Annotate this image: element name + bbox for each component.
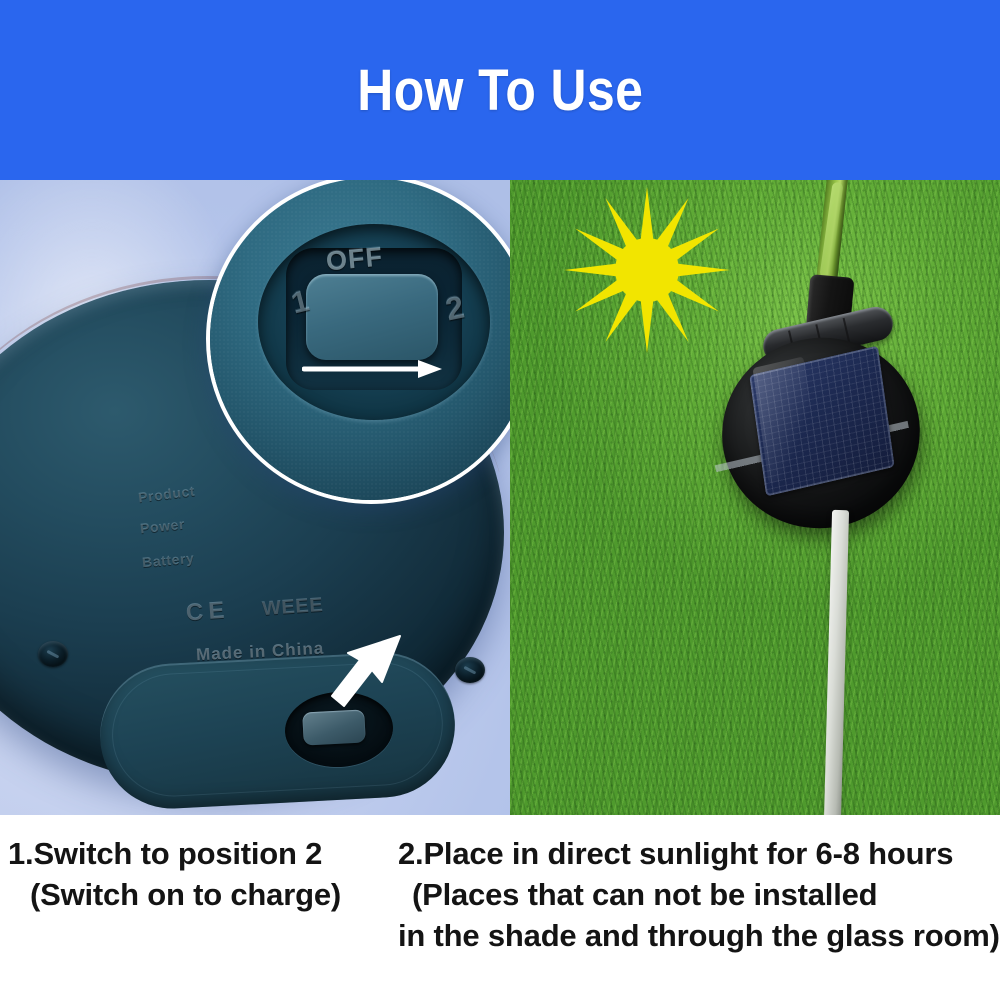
ce-mark-icon: CE xyxy=(185,597,230,628)
product-underside-photo: Product Power Battery CE WEEE Made in Ch… xyxy=(0,180,510,815)
pointer-arrow-icon xyxy=(322,632,418,718)
photo-strip: Product Power Battery CE WEEE Made in Ch… xyxy=(0,180,1000,815)
step-2-line-2: (Places that can not be installed xyxy=(398,874,1000,915)
screw-icon xyxy=(38,641,68,667)
step-2-line-1: 2.Place in direct sunlight for 6-8 hours xyxy=(398,833,1000,874)
caption-area: 1.Switch to position 2 (Switch on to cha… xyxy=(0,815,1000,1000)
weee-bin-icon: WEEE xyxy=(261,594,324,621)
sun-icon xyxy=(562,185,732,355)
header-banner: How To Use xyxy=(0,0,1000,180)
screw-icon xyxy=(455,657,485,683)
switch-slider-knob[interactable] xyxy=(306,274,438,360)
switch-off-label: OFF xyxy=(325,242,384,278)
step-2-caption: 2.Place in direct sunlight for 6-8 hours… xyxy=(398,833,1000,956)
how-to-use-infographic: How To Use Product Power Battery CE WEEE… xyxy=(0,0,1000,1000)
step-1-line-2: (Switch on to charge) xyxy=(8,874,341,915)
switch-magnifier-inset: OFF 1 2 xyxy=(206,180,510,504)
step-2-line-3: in the shade and through the glass room) xyxy=(398,915,1000,956)
installed-in-lawn-photo xyxy=(510,180,1000,815)
step-1-caption: 1.Switch to position 2 (Switch on to cha… xyxy=(8,833,341,915)
page-title: How To Use xyxy=(357,57,643,124)
slide-direction-arrow-icon xyxy=(302,358,446,380)
step-1-line-1: 1.Switch to position 2 xyxy=(8,833,341,874)
